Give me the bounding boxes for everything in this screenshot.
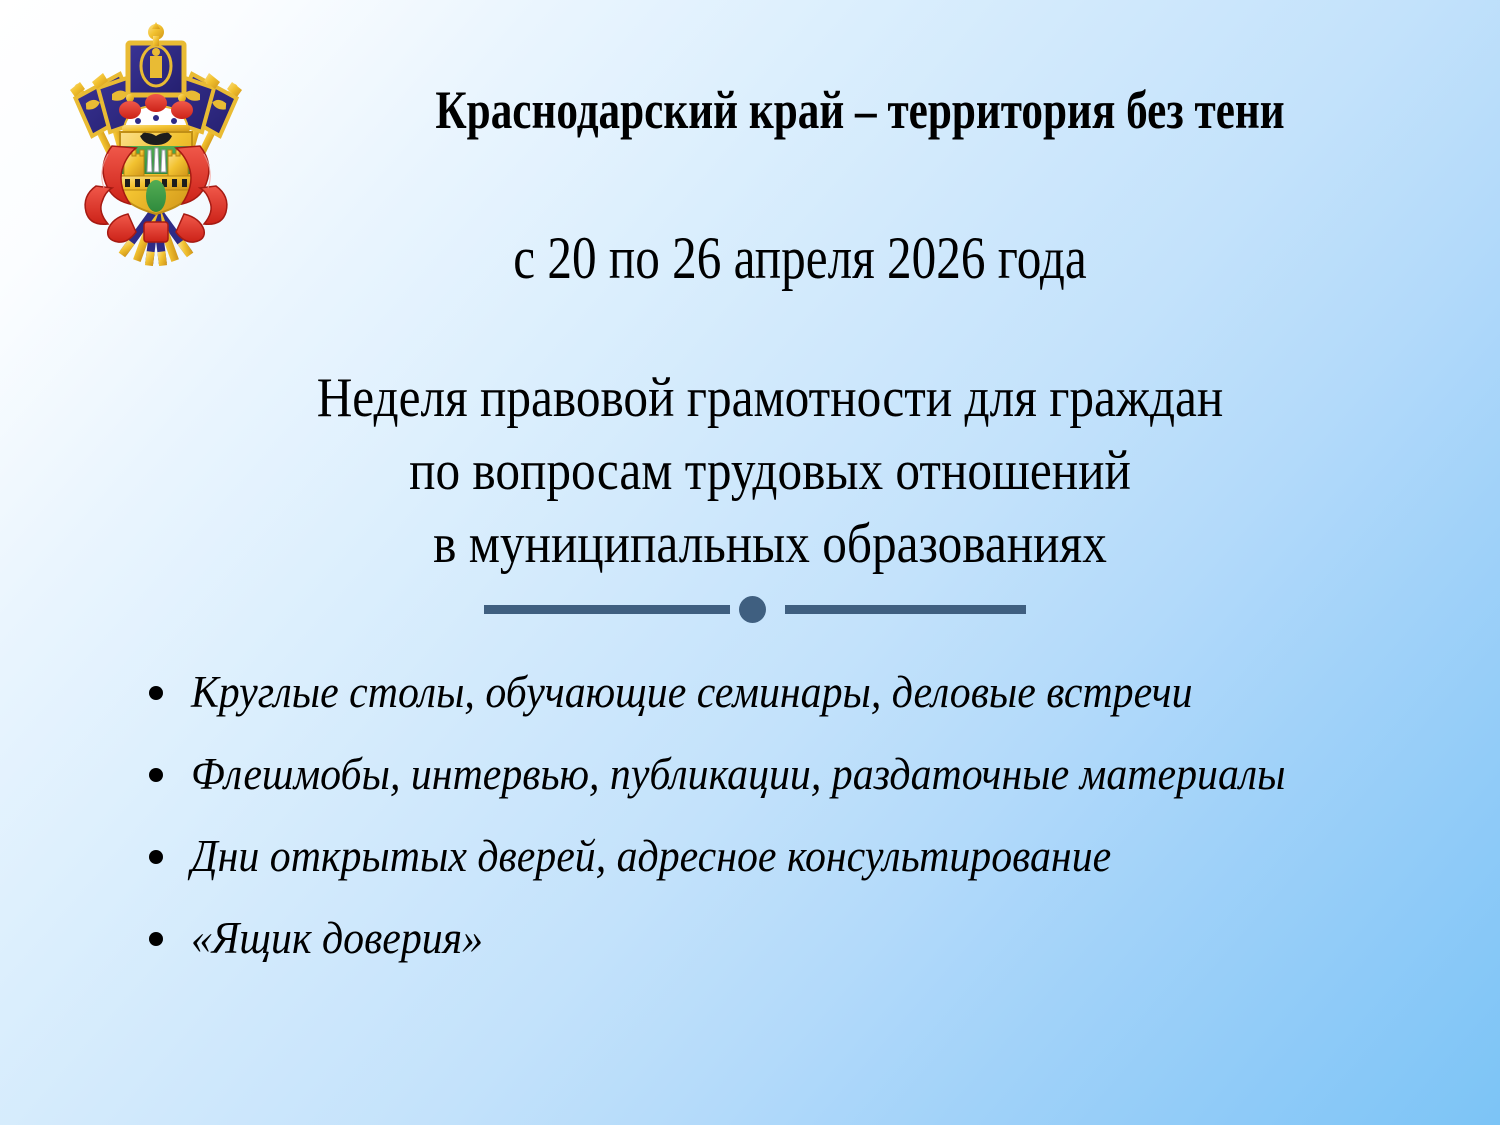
list-item-label: «Ящик доверия» — [191, 914, 483, 964]
list-item-label: Дни открытых дверей, адресное консультир… — [191, 832, 1111, 882]
activities-list: Круглые столы, обучающие семинары, делов… — [140, 652, 1460, 980]
list-item: Дни открытых дверей, адресное консультир… — [140, 816, 1460, 898]
list-item-label: Флешмобы, интервью, публикации, раздаточ… — [191, 750, 1285, 800]
section-divider — [484, 596, 1026, 624]
heading-line-1: Неделя правовой грамотности для граждан — [224, 362, 1315, 435]
bullet-dot-icon — [149, 768, 163, 782]
date-range: с 20 по 26 апреля 2026 года — [308, 226, 1292, 291]
divider-bar-left — [484, 605, 730, 614]
coat-of-arms-krasnodar-krai — [62, 18, 250, 266]
list-item-label: Круглые столы, обучающие семинары, делов… — [191, 668, 1193, 718]
divider-bar-right — [785, 605, 1026, 614]
list-item: «Ящик доверия» — [140, 898, 1460, 980]
bullet-dot-icon — [149, 686, 163, 700]
heading-line-2: по вопросам трудовых отношений — [224, 435, 1315, 508]
bullet-dot-icon — [149, 932, 163, 946]
bullet-dot-icon — [149, 850, 163, 864]
list-item: Круглые столы, обучающие семинары, делов… — [140, 652, 1460, 734]
slide-canvas: Краснодарский край – территория без тени… — [0, 0, 1500, 1125]
heading-line-3: в муниципальных образованиях — [224, 508, 1315, 581]
slide-title: Краснодарский край – территория без тени — [396, 82, 1324, 139]
list-item: Флешмобы, интервью, публикации, раздаточ… — [140, 734, 1460, 816]
divider-dot-icon — [739, 596, 766, 623]
event-heading: Неделя правовой грамотности для граждан … — [224, 362, 1315, 580]
